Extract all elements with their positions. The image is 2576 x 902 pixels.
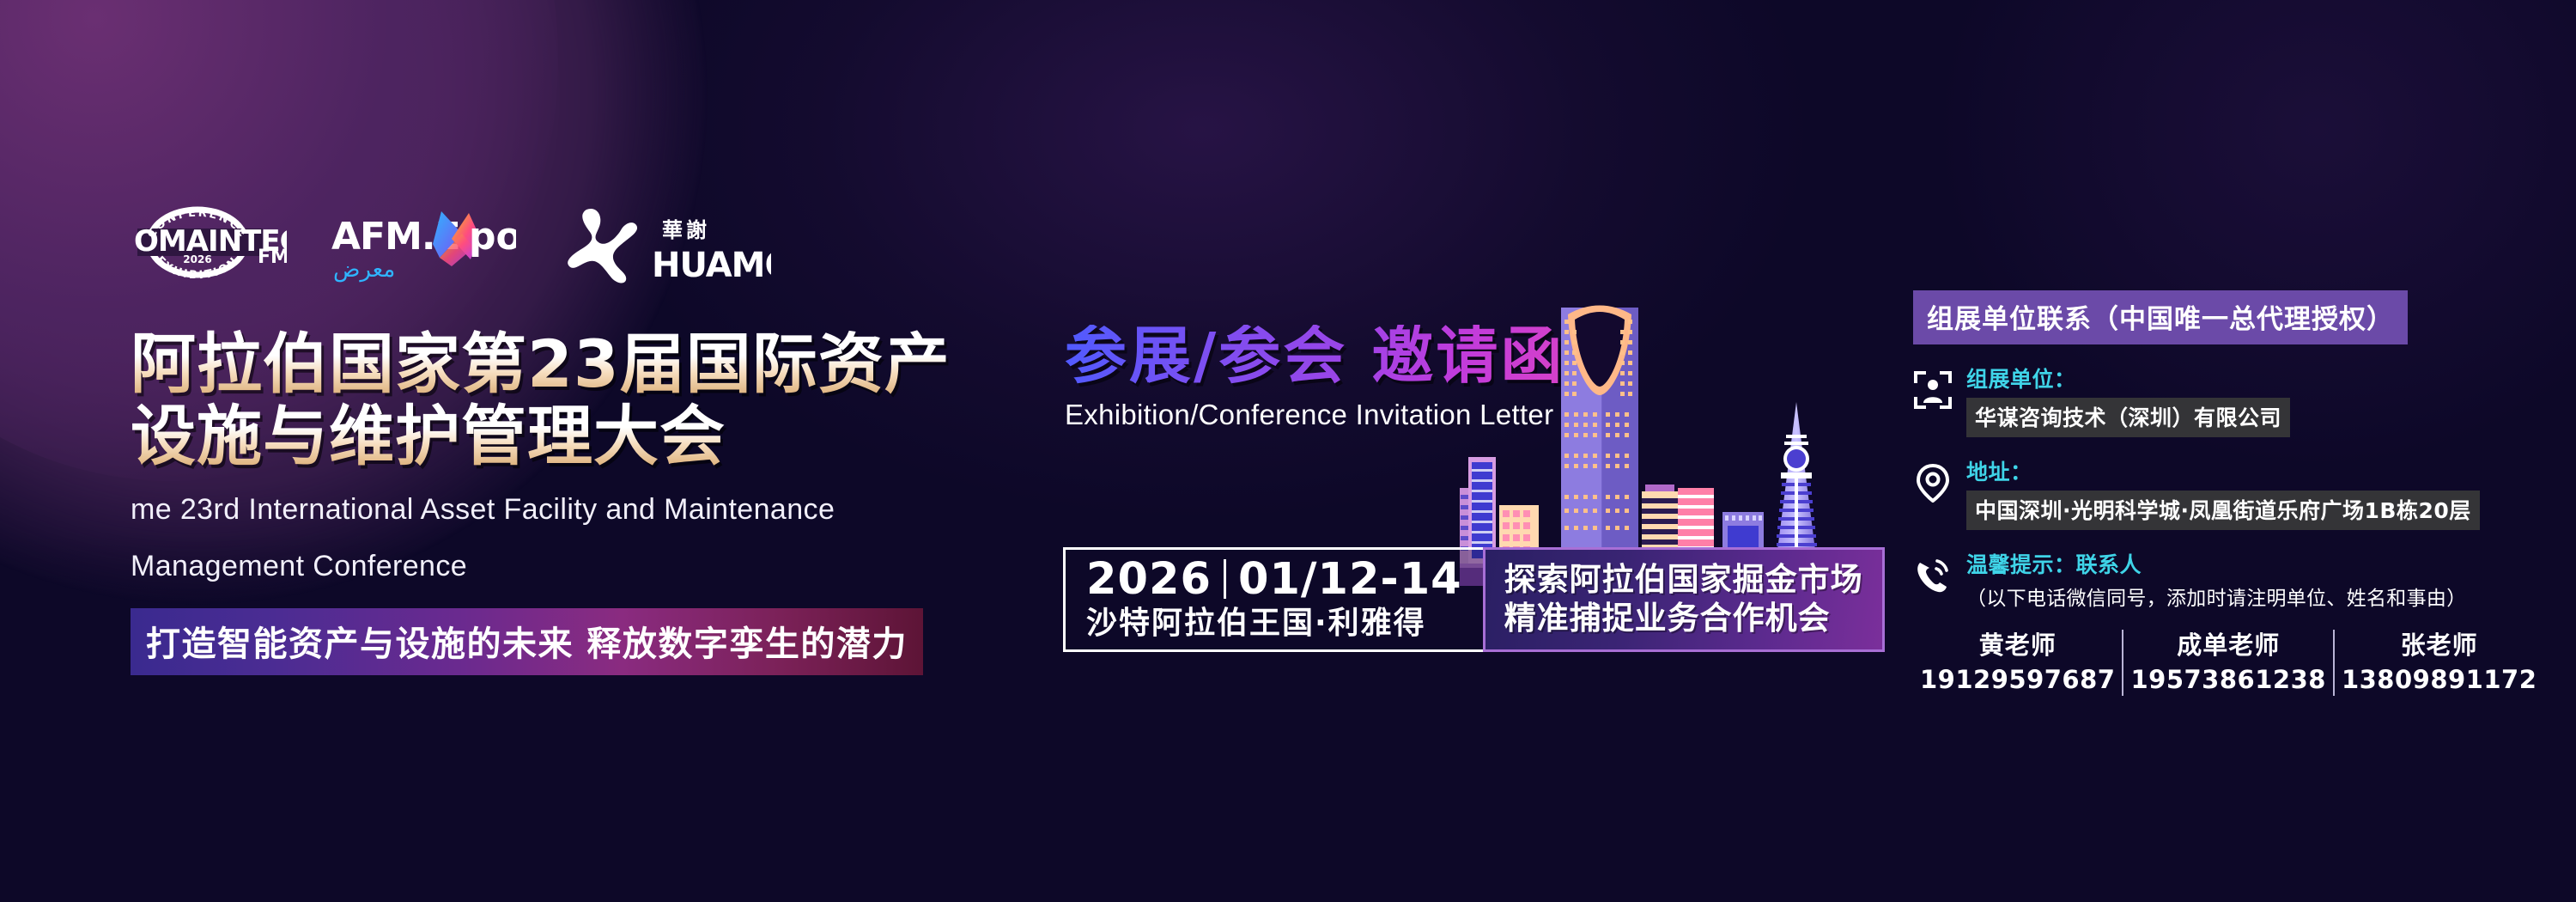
contact-person: 黄老师 19129597687 [1913,630,2122,696]
headline-block: 阿拉伯国家第23届国际资产 设施与维护管理大会 me 23rd Internat… [131,328,1041,675]
slogan-line1: 探索阿拉伯国家掘金市场 [1504,562,1863,597]
huamou-en-name: HUAMOU [652,246,771,285]
event-year: 2026 [1086,558,1212,601]
organizer-body: 组展单位： 华谋咨询技术（深圳）有限公司 [1966,367,2463,437]
headline-cn-line1: 阿拉伯国家第23届国际资产 [131,328,1041,400]
date-box: 2026 01/12-14 沙特阿拉伯王国·利雅得 [1063,547,1483,652]
contact-row-organizer: 组展单位： 华谋咨询技术（深圳）有限公司 [1913,367,2463,437]
map-pin-icon [1913,463,1953,503]
address-value: 中国深圳·光明科学城·凤凰街道乐府广场1B栋20层 [1966,491,2480,530]
omaintec-logo: CONFERENCE EXHIBITION 2026 OMAINTEC FM [131,198,287,287]
address-body: 地址： 中国深圳·光明科学城·凤凰街道乐府广场1B栋20层 [1966,460,2480,530]
event-month-day: 01/12-14 [1238,558,1462,601]
contact-person-list: 黄老师 19129597687 成单老师 19573861238 张老师 138… [1913,630,2463,696]
headline-en-line2: Management Conference [131,547,1041,585]
headline-tagline: 打造智能资产与设施的未来 释放数字孪生的潜力 [131,608,923,675]
huamou-cn-name: 華謝 [662,218,710,242]
contact-person-phone[interactable]: 19573861238 [2130,664,2325,695]
contact-person-name: 成单老师 [2130,630,2325,661]
omaintec-fm-suffix: FM [258,247,287,268]
contact-panel-title: 组展单位联系（中国唯一总代理授权） [1913,290,2408,344]
contact-panel: 组展单位联系（中国唯一总代理授权） 组展单位： 华谋咨询技术（深圳）有限公司 [1913,290,2463,696]
tip-body: 温馨提示：联系人 （以下电话微信同号，添加时请注明单位、姓名和事由） [1966,552,2467,611]
organizer-label: 组展单位： [1966,367,2463,393]
phone-call-icon [1913,556,1953,595]
huamou-logo: 華謝 HUAMOU [561,198,771,287]
contact-person-name: 黄老师 [1920,630,2115,661]
slogan-box: 探索阿拉伯国家掘金市场 精准捕捉业务合作机会 [1483,547,1885,652]
date-location-strip: 2026 01/12-14 沙特阿拉伯王国·利雅得 探索阿拉伯国家掘金市场 精准… [1063,547,1885,652]
conference-banner: CONFERENCE EXHIBITION 2026 OMAINTEC FM [0,0,2576,902]
contact-person: 张老师 13809891172 [2333,630,2543,696]
afm-wordmark-tail: po [469,215,516,259]
afm-arabic-label: معرض [333,257,395,283]
slogan-line2: 精准捕捉业务合作机会 [1504,600,1863,636]
date-divider [1224,559,1226,599]
contact-person-phone[interactable]: 13809891172 [2342,664,2537,695]
contact-person: 成单老师 19573861238 [2122,630,2332,696]
address-label: 地址： [1966,460,2480,485]
contact-person-name: 张老师 [2342,630,2537,661]
contact-person-phone[interactable]: 19129597687 [1920,664,2115,695]
headline-cn-line2: 设施与维护管理大会 [131,400,1041,472]
contact-row-address: 地址： 中国深圳·光明科学城·凤凰街道乐府广场1B栋20层 [1913,460,2463,530]
organizer-value: 华谋咨询技术（深圳）有限公司 [1966,398,2290,437]
logo-row: CONFERENCE EXHIBITION 2026 OMAINTEC FM [131,196,771,289]
contact-row-tip: 温馨提示：联系人 （以下电话微信同号，添加时请注明单位、姓名和事由） [1913,552,2463,611]
person-frame-icon [1913,370,1953,410]
event-location: 沙特阿拉伯王国·利雅得 [1086,606,1462,641]
afm-expo-logo: AFM.E po معرض [331,196,516,289]
headline-en-line1: me 23rd International Asset Facility and… [131,491,1041,528]
date-line: 2026 01/12-14 [1086,558,1462,601]
tip-label: 温馨提示：联系人 [1966,552,2467,578]
tip-note: （以下电话微信同号，添加时请注明单位、姓名和事由） [1966,582,2467,611]
